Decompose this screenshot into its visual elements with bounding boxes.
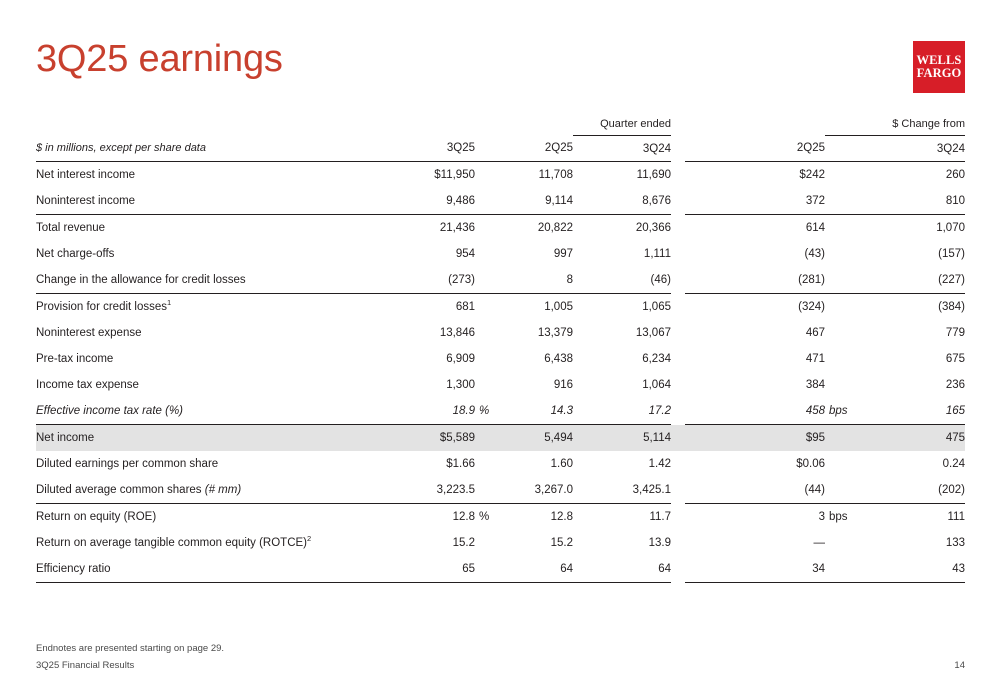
table-row: Noninterest income9,4869,1148,676372810 <box>36 188 965 215</box>
column-group-gap <box>671 113 685 136</box>
column-header-2q25-change: 2Q25 <box>685 136 825 162</box>
value-2q25-quarter-text: 15.2 <box>551 537 573 549</box>
value-2q25-change: 3bps <box>685 504 825 531</box>
value-2q25-quarter: 13,379 <box>475 320 573 346</box>
column-group-gap <box>671 136 685 162</box>
value-2q25-change: 372 <box>685 188 825 215</box>
value-3q24-quarter-text: 13,067 <box>636 327 671 339</box>
value-3q24-change-text: 43 <box>952 563 965 575</box>
value-3q24-quarter: 1,065 <box>573 294 671 321</box>
value-2q25-quarter: 15.2 <box>475 530 573 556</box>
value-2q25-change: (44) <box>685 477 825 504</box>
value-2q25-quarter-text: 64 <box>560 563 573 575</box>
row-label: Net interest income <box>36 162 377 189</box>
value-3q25-quarter: 65 <box>377 556 475 583</box>
column-group-gap <box>671 294 685 321</box>
group-header-spacer <box>475 113 573 136</box>
wells-fargo-logo: WELLS FARGO <box>913 41 965 93</box>
value-3q25-quarter: 18.9% <box>377 398 475 425</box>
column-group-gap <box>671 320 685 346</box>
value-2q25-change: 614 <box>685 215 825 242</box>
value-3q24-change: 675 <box>825 346 965 372</box>
value-3q24-change: 810 <box>825 188 965 215</box>
column-header-3q24-quarter: 3Q24 <box>573 136 671 162</box>
table-row: Effective income tax rate (%)18.9%14.317… <box>36 398 965 425</box>
value-2q25-change: (43) <box>685 241 825 267</box>
table-row: Net interest income$11,95011,70811,690$2… <box>36 162 965 189</box>
value-2q25-change-text: $242 <box>799 169 825 181</box>
value-2q25-change: 384 <box>685 372 825 398</box>
value-3q24-change: 475 <box>825 425 965 452</box>
column-group-gap <box>671 372 685 398</box>
row-label: Net charge-offs <box>36 241 377 267</box>
value-3q24-change: 133 <box>825 530 965 556</box>
value-2q25-quarter: 14.3 <box>475 398 573 425</box>
value-3q24-change-text: (227) <box>938 274 965 286</box>
value-3q24-change-text: 236 <box>946 379 965 391</box>
value-2q25-quarter-text: 1,005 <box>544 301 573 313</box>
row-label: Pre-tax income <box>36 346 377 372</box>
value-3q25-quarter-text: $1.66 <box>446 458 475 470</box>
column-header-3q24-change: 3Q24 <box>825 136 965 162</box>
value-3q24-quarter: 1,111 <box>573 241 671 267</box>
column-group-gap <box>671 556 685 583</box>
column-group-gap <box>671 267 685 294</box>
value-3q24-quarter: 5,114 <box>573 425 671 452</box>
value-3q24-change: 0.24 <box>825 451 965 477</box>
value-2q25-change-text: (44) <box>805 484 825 496</box>
value-2q25-quarter-text: 8 <box>567 274 573 286</box>
value-3q24-quarter-text: 8,676 <box>642 195 671 207</box>
column-group-gap <box>671 425 685 452</box>
value-2q25-quarter-text: 20,822 <box>538 222 573 234</box>
value-3q25-quarter-text: 12.8% <box>453 511 475 523</box>
table-row: Change in the allowance for credit losse… <box>36 267 965 294</box>
value-2q25-quarter: 5,494 <box>475 425 573 452</box>
group-header-spacer <box>377 113 475 136</box>
column-header-2q25-quarter: 2Q25 <box>475 136 573 162</box>
value-3q24-change-text: (202) <box>938 484 965 496</box>
group-header-quarter-ended: Quarter ended <box>573 113 671 136</box>
value-3q24-change-text: 779 <box>946 327 965 339</box>
value-2q25-change-text: 34 <box>812 563 825 575</box>
value-2q25-quarter-text: 12.8 <box>551 511 573 523</box>
footer-doc-title: 3Q25 Financial Results <box>36 660 134 671</box>
value-3q24-change: (202) <box>825 477 965 504</box>
column-group-gap <box>671 398 685 425</box>
value-3q25-quarter-text: 954 <box>456 248 475 260</box>
group-header-row: Quarter ended $ Change from <box>36 113 965 136</box>
value-3q25-quarter-text: 15.2 <box>453 537 475 549</box>
value-3q24-quarter: 13.9 <box>573 530 671 556</box>
value-3q25-quarter: $11,950 <box>377 162 475 189</box>
row-label: Total revenue <box>36 215 377 242</box>
value-2q25-change: (324) <box>685 294 825 321</box>
value-3q25-quarter: 3,223.5 <box>377 477 475 504</box>
value-3q24-change-text: 165 <box>946 405 965 417</box>
value-3q25-quarter-text: 6,909 <box>446 353 475 365</box>
value-2q25-quarter-text: 6,438 <box>544 353 573 365</box>
column-header-row: $ in millions, except per share data 3Q2… <box>36 136 965 162</box>
value-3q24-change-text: 260 <box>946 169 965 181</box>
value-2q25-quarter: 11,708 <box>475 162 573 189</box>
row-label: Income tax expense <box>36 372 377 398</box>
value-3q25-quarter-text: 681 <box>456 301 475 313</box>
value-2q25-change-text: 384 <box>806 379 825 391</box>
table-row: Diluted average common shares (# mm)3,22… <box>36 477 965 504</box>
value-3q24-change-text: 675 <box>946 353 965 365</box>
row-label: Diluted average common shares (# mm) <box>36 477 377 504</box>
value-3q24-change-text: 0.24 <box>943 458 965 470</box>
endnote-text: Endnotes are presented starting on page … <box>36 643 965 654</box>
table-row: Net charge-offs9549971,111(43)(157) <box>36 241 965 267</box>
value-2q25-quarter: 8 <box>475 267 573 294</box>
value-2q25-change-text: $95 <box>806 432 825 444</box>
footnote-marker: 1 <box>167 298 171 307</box>
slide-header: 3Q25 earnings WELLS FARGO <box>0 0 1000 110</box>
value-3q24-quarter-text: 1,111 <box>644 248 671 260</box>
value-3q25-quarter: 6,909 <box>377 346 475 372</box>
value-3q25-quarter: $1.66 <box>377 451 475 477</box>
value-2q25-change: $242 <box>685 162 825 189</box>
value-3q24-quarter-text: 11.7 <box>649 511 671 523</box>
value-3q24-change: 43 <box>825 556 965 583</box>
value-3q25-quarter: 13,846 <box>377 320 475 346</box>
row-label: Net income <box>36 425 377 452</box>
value-3q24-change: 236 <box>825 372 965 398</box>
column-group-gap <box>671 504 685 531</box>
value-2q25-quarter-text: 14.3 <box>551 405 573 417</box>
page-number: 14 <box>954 660 965 671</box>
value-3q24-quarter: 20,366 <box>573 215 671 242</box>
value-3q25-quarter-suffix: % <box>475 405 489 417</box>
row-label: Diluted earnings per common share <box>36 451 377 477</box>
value-2q25-change: 467 <box>685 320 825 346</box>
value-3q24-quarter: 6,234 <box>573 346 671 372</box>
value-2q25-quarter: 6,438 <box>475 346 573 372</box>
table-row: Return on average tangible common equity… <box>36 530 965 556</box>
value-2q25-change: — <box>685 530 825 556</box>
column-group-gap <box>671 215 685 242</box>
unit-note: $ in millions, except per share data <box>36 136 377 162</box>
logo-line-2: FARGO <box>917 67 962 81</box>
value-3q24-quarter: 1.42 <box>573 451 671 477</box>
value-3q24-quarter-text: 3,425.1 <box>633 484 671 496</box>
row-label: Provision for credit losses1 <box>36 294 377 321</box>
earnings-table: Quarter ended $ Change from $ in million… <box>36 113 965 583</box>
row-label: Return on equity (ROE) <box>36 504 377 531</box>
page-title: 3Q25 earnings <box>36 38 283 81</box>
value-2q25-change-text: (281) <box>798 274 825 286</box>
value-3q24-quarter: 8,676 <box>573 188 671 215</box>
value-3q24-quarter: 3,425.1 <box>573 477 671 504</box>
value-2q25-change-text: 372 <box>806 195 825 207</box>
logo-line-1: WELLS <box>917 54 962 68</box>
value-3q25-quarter-text: 65 <box>462 563 475 575</box>
value-2q25-change: 471 <box>685 346 825 372</box>
row-label-note: (# mm) <box>205 484 241 496</box>
column-group-gap <box>671 241 685 267</box>
group-header-spacer <box>36 113 377 136</box>
value-3q24-change: (384) <box>825 294 965 321</box>
value-3q25-quarter-text: 13,846 <box>440 327 475 339</box>
value-3q24-change-text: (384) <box>938 301 965 313</box>
value-3q24-change-text: 133 <box>946 537 965 549</box>
value-2q25-change-suffix: bps <box>825 405 848 417</box>
value-2q25-quarter: 1,005 <box>475 294 573 321</box>
value-3q24-change-text: 475 <box>946 432 965 444</box>
value-3q24-change: 779 <box>825 320 965 346</box>
value-2q25-change: $0.06 <box>685 451 825 477</box>
value-3q24-quarter: 11.7 <box>573 504 671 531</box>
value-2q25-change: (281) <box>685 267 825 294</box>
column-header-3q25-quarter: 3Q25 <box>377 136 475 162</box>
value-3q24-change-text: (157) <box>938 248 965 260</box>
value-3q25-quarter: 681 <box>377 294 475 321</box>
value-3q24-quarter-text: (46) <box>651 274 671 286</box>
footer-row: 3Q25 Financial Results 14 <box>36 660 965 671</box>
value-3q24-change: 1,070 <box>825 215 965 242</box>
value-3q24-quarter-text: 13.9 <box>649 537 671 549</box>
value-3q24-change-text: 1,070 <box>936 222 965 234</box>
value-3q25-quarter: 12.8% <box>377 504 475 531</box>
value-3q24-quarter: 13,067 <box>573 320 671 346</box>
column-group-gap <box>671 477 685 504</box>
value-2q25-quarter: 997 <box>475 241 573 267</box>
value-2q25-quarter: 12.8 <box>475 504 573 531</box>
value-3q25-quarter: 954 <box>377 241 475 267</box>
value-3q25-quarter-text: $11,950 <box>434 169 475 181</box>
column-group-gap <box>671 346 685 372</box>
value-3q25-quarter: 1,300 <box>377 372 475 398</box>
value-2q25-quarter: 3,267.0 <box>475 477 573 504</box>
table-row: Return on equity (ROE)12.8%12.811.73bps1… <box>36 504 965 531</box>
value-3q24-change: (227) <box>825 267 965 294</box>
value-3q24-quarter-text: 1,064 <box>642 379 671 391</box>
table-row: Total revenue21,43620,82220,3666141,070 <box>36 215 965 242</box>
value-3q25-quarter-text: $5,589 <box>440 432 475 444</box>
value-3q25-quarter: 15.2 <box>377 530 475 556</box>
value-3q24-quarter: 1,064 <box>573 372 671 398</box>
value-2q25-change-text: 458bps <box>806 405 825 417</box>
value-2q25-change-text: 614 <box>806 222 825 234</box>
table-row: Efficiency ratio6564643443 <box>36 556 965 583</box>
value-3q24-quarter-text: 64 <box>658 563 671 575</box>
value-3q24-quarter-text: 20,366 <box>636 222 671 234</box>
table-row: Net income$5,5895,4945,114$95475 <box>36 425 965 452</box>
value-2q25-quarter-text: 3,267.0 <box>535 484 573 496</box>
row-label: Return on average tangible common equity… <box>36 530 377 556</box>
value-2q25-change-text: 3bps <box>819 511 825 523</box>
value-2q25-change-text: 471 <box>806 353 825 365</box>
group-header-spacer <box>685 113 825 136</box>
value-3q25-quarter-text: 9,486 <box>446 195 475 207</box>
value-2q25-change: 34 <box>685 556 825 583</box>
value-3q24-change-text: 111 <box>948 511 965 523</box>
value-3q24-quarter: 11,690 <box>573 162 671 189</box>
column-group-gap <box>671 530 685 556</box>
value-2q25-change-text: (43) <box>805 248 825 260</box>
value-3q25-quarter-text: 21,436 <box>440 222 475 234</box>
value-2q25-change-text: — <box>814 537 826 549</box>
value-3q24-change: (157) <box>825 241 965 267</box>
value-2q25-change-suffix: bps <box>825 511 848 523</box>
value-3q25-quarter: 9,486 <box>377 188 475 215</box>
value-3q25-quarter: $5,589 <box>377 425 475 452</box>
row-label: Change in the allowance for credit losse… <box>36 267 377 294</box>
value-3q24-quarter-text: 1.42 <box>649 458 671 470</box>
group-header-change-from: $ Change from <box>825 113 965 136</box>
value-2q25-quarter: 916 <box>475 372 573 398</box>
value-3q25-quarter-text: 1,300 <box>446 379 475 391</box>
value-2q25-quarter-text: 9,114 <box>545 195 573 207</box>
value-2q25-quarter: 20,822 <box>475 215 573 242</box>
value-2q25-quarter-text: 5,494 <box>544 432 573 444</box>
row-label: Efficiency ratio <box>36 556 377 583</box>
value-3q24-quarter-text: 11,690 <box>637 169 671 181</box>
footnote-marker: 2 <box>307 534 311 543</box>
value-3q25-quarter: (273) <box>377 267 475 294</box>
value-2q25-change: 458bps <box>685 398 825 425</box>
value-3q24-quarter: (46) <box>573 267 671 294</box>
value-3q24-change-text: 810 <box>946 195 965 207</box>
value-2q25-change-text: $0.06 <box>796 458 825 470</box>
value-3q25-quarter-text: (273) <box>448 274 475 286</box>
value-3q24-quarter-text: 5,114 <box>643 432 671 444</box>
value-2q25-quarter-text: 11,708 <box>539 169 573 181</box>
value-2q25-change-text: 467 <box>806 327 825 339</box>
slide-footer: Endnotes are presented starting on page … <box>36 643 965 671</box>
value-2q25-quarter: 9,114 <box>475 188 573 215</box>
value-2q25-quarter-text: 916 <box>554 379 573 391</box>
value-3q25-quarter-text: 18.9% <box>453 405 475 417</box>
row-label: Noninterest income <box>36 188 377 215</box>
value-2q25-quarter: 64 <box>475 556 573 583</box>
value-3q25-quarter: 21,436 <box>377 215 475 242</box>
column-group-gap <box>671 162 685 189</box>
table-head: Quarter ended $ Change from $ in million… <box>36 113 965 162</box>
value-3q25-quarter-text: 3,223.5 <box>437 484 475 496</box>
value-3q24-change: 260 <box>825 162 965 189</box>
table-row: Pre-tax income6,9096,4386,234471675 <box>36 346 965 372</box>
value-2q25-quarter-text: 1.60 <box>551 458 573 470</box>
row-label: Noninterest expense <box>36 320 377 346</box>
value-2q25-change: $95 <box>685 425 825 452</box>
row-label: Effective income tax rate (%) <box>36 398 377 425</box>
table-body: Net interest income$11,95011,70811,690$2… <box>36 162 965 583</box>
table-row: Diluted earnings per common share$1.661.… <box>36 451 965 477</box>
value-3q25-quarter-suffix: % <box>475 511 489 523</box>
value-2q25-quarter-text: 997 <box>554 248 573 260</box>
column-group-gap <box>671 188 685 215</box>
value-3q24-quarter: 64 <box>573 556 671 583</box>
value-3q24-quarter-text: 1,065 <box>642 301 671 313</box>
value-3q24-quarter: 17.2 <box>573 398 671 425</box>
value-3q24-quarter-text: 17.2 <box>649 405 671 417</box>
column-group-gap <box>671 451 685 477</box>
value-2q25-quarter-text: 13,379 <box>538 327 573 339</box>
table-row: Noninterest expense13,84613,37913,067467… <box>36 320 965 346</box>
value-3q24-quarter-text: 6,234 <box>642 353 671 365</box>
value-2q25-quarter: 1.60 <box>475 451 573 477</box>
table-row: Provision for credit losses16811,0051,06… <box>36 294 965 321</box>
table-row: Income tax expense1,3009161,064384236 <box>36 372 965 398</box>
value-2q25-change-text: (324) <box>798 301 825 313</box>
